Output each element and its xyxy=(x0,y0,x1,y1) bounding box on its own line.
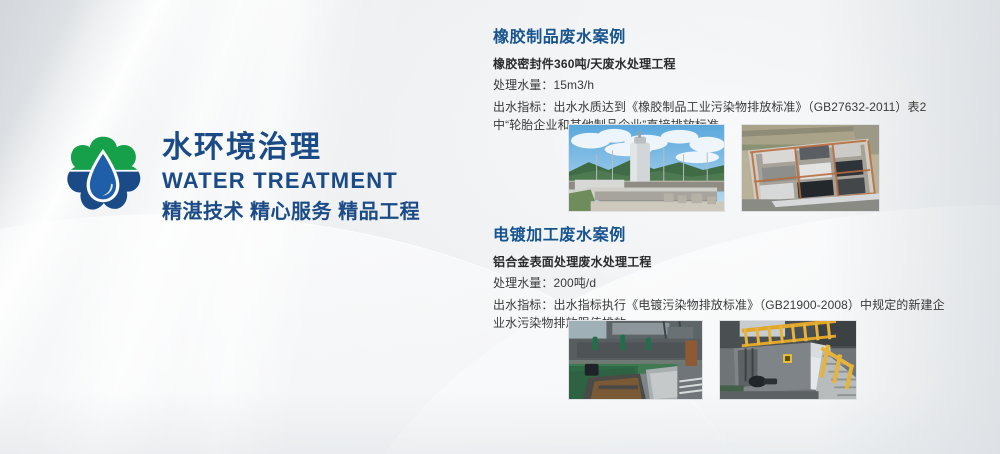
photo-alt-texts: 室外污水处理厂设备与储罐 污水处理池航拍俯视图 车间内电镀废水处理池 带黄色护栏… xyxy=(0,0,1,1)
photo-electroplating-equipment[interactable] xyxy=(719,320,857,400)
case-title: 橡胶制品废水案例 xyxy=(493,28,953,49)
case-subtitle: 橡胶密封件360吨/天废水处理工程 xyxy=(493,56,953,72)
case-title: 电镀加工废水案例 xyxy=(493,226,953,247)
logo-title-cn: 水环境治理 xyxy=(162,130,420,165)
logo-title-en: WATER TREATMENT xyxy=(162,167,420,195)
photo-rubber-plant-exterior[interactable] xyxy=(568,124,725,212)
brand-logo-block: 水环境治理 WATER TREATMENT 精湛技术 精心服务 精品工程 xyxy=(62,130,420,226)
photo-rubber-aerial-basins[interactable] xyxy=(741,124,880,212)
case-photo-strip-rubber xyxy=(568,124,880,212)
water-drop-flower-logo-icon xyxy=(62,135,144,221)
photo-electroplating-tanks[interactable] xyxy=(568,320,703,400)
case-capacity: 处理水量：15m3/h xyxy=(493,76,953,95)
case-block-electroplating-wastewater: 电镀加工废水案例 铝合金表面处理废水处理工程 处理水量：200吨/d 出水指标：… xyxy=(493,226,953,333)
case-block-rubber-wastewater: 橡胶制品废水案例 橡胶密封件360吨/天废水处理工程 处理水量：15m3/h 出… xyxy=(493,28,953,135)
logo-slogan: 精湛技术 精心服务 精品工程 xyxy=(162,199,420,226)
banner-canvas: 水环境治理 WATER TREATMENT 精湛技术 精心服务 精品工程 橡胶制… xyxy=(0,0,1000,454)
case-photo-strip-electroplating xyxy=(568,320,857,400)
case-capacity: 处理水量：200吨/d xyxy=(493,274,953,293)
case-subtitle: 铝合金表面处理废水处理工程 xyxy=(493,254,953,270)
